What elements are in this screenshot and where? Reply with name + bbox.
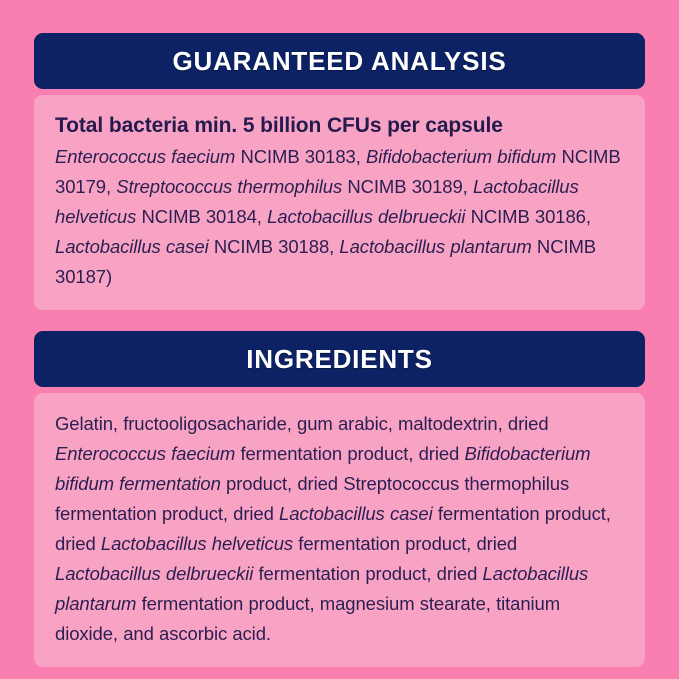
panel-guaranteed-analysis: GUARANTEED ANALYSIS Total bacteria min. … — [34, 33, 645, 310]
organism-name: Enterococcus faecium — [55, 146, 235, 167]
text-run: NCIMB 30189, — [342, 176, 473, 197]
supplement-label-page: GUARANTEED ANALYSIS Total bacteria min. … — [0, 0, 679, 679]
text-run: fermentation product, dried — [293, 533, 522, 554]
organism-name: Lactobacillus delbrueckii — [267, 206, 465, 227]
organism-name: Lactobacillus casei — [55, 236, 209, 257]
organism-name: Lactobacillus helveticus — [101, 533, 293, 554]
panel-ingredients: INGREDIENTS Gelatin, fructooligosacharid… — [34, 331, 645, 667]
panel-body-guaranteed-analysis: Total bacteria min. 5 billion CFUs per c… — [34, 95, 645, 310]
organism-name: Streptococcus thermophilus — [116, 176, 342, 197]
total-bacteria-statement: Total bacteria min. 5 billion CFUs per c… — [55, 111, 625, 141]
text-run: fermentation product, dried — [235, 443, 464, 464]
text-run: NCIMB 30186, — [465, 206, 596, 227]
panel-body-ingredients: Gelatin, fructooligosacharide, gum arabi… — [34, 393, 645, 667]
organism-name: Bifidobacterium bifidum — [366, 146, 556, 167]
organism-name: Lactobacillus casei — [279, 503, 433, 524]
ingredients-list-text: Gelatin, fructooligosacharide, gum arabi… — [55, 409, 625, 649]
organism-name: Lactobacillus plantarum — [339, 236, 531, 257]
panel-header-title: GUARANTEED ANALYSIS — [173, 48, 507, 74]
text-run: Gelatin, fructooligosacharide, gum arabi… — [55, 413, 554, 434]
text-run: NCIMB 30183, — [235, 146, 366, 167]
strain-list-text: Enterococcus faecium NCIMB 30183, Bifido… — [55, 142, 625, 292]
panel-header-title: INGREDIENTS — [246, 346, 432, 372]
text-run: NCIMB 30184, — [136, 206, 267, 227]
panel-header-ingredients: INGREDIENTS — [34, 331, 645, 387]
organism-name: Lactobacillus delbrueckii — [55, 563, 253, 584]
panel-header-guaranteed-analysis: GUARANTEED ANALYSIS — [34, 33, 645, 89]
organism-name: Enterococcus faecium — [55, 443, 235, 464]
text-run: fermentation product, dried — [253, 563, 482, 584]
text-run: NCIMB 30188, — [209, 236, 340, 257]
